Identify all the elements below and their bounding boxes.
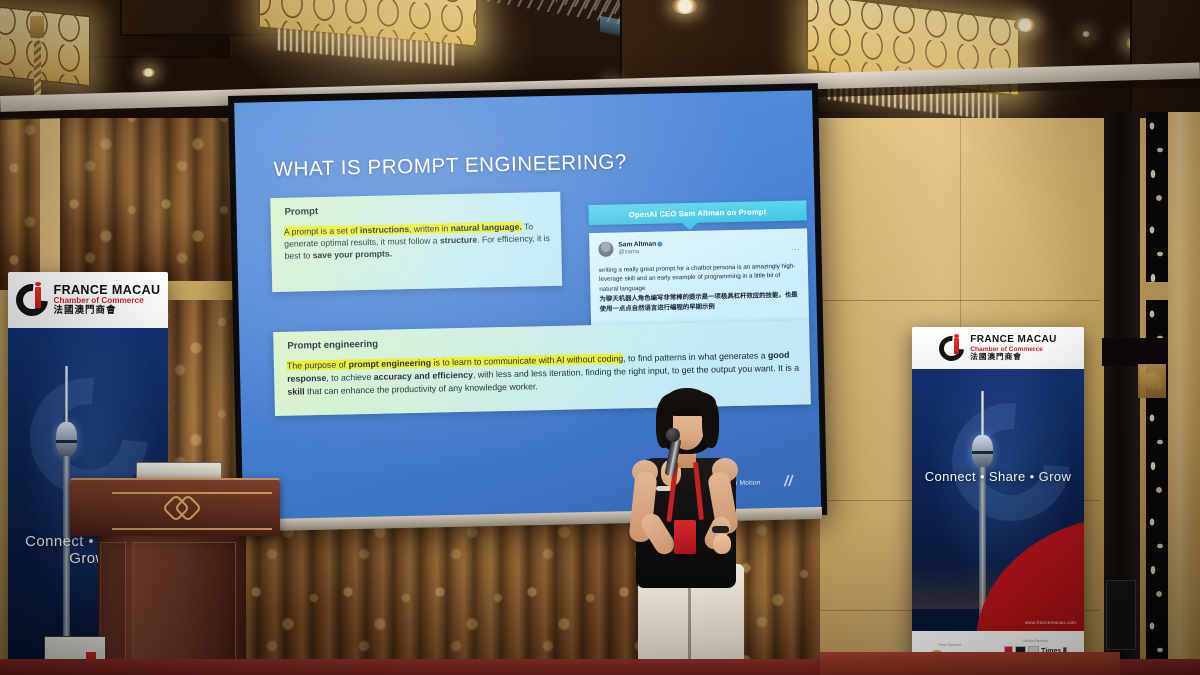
tweet-text: writing a really great prompt for a chat…: [599, 262, 801, 294]
verified-badge-icon: [657, 242, 662, 247]
engineering-card-label: Prompt engineering: [287, 339, 378, 352]
speaker-figure: [612, 386, 782, 675]
name-badge-icon: [674, 520, 696, 554]
prompt-card-label: Prompt: [284, 206, 318, 218]
tweet-author-name: Sam Altman: [618, 241, 656, 249]
rollup-right-url: www.francemacau.com: [1025, 620, 1076, 625]
slide-title: WHAT IS PROMPT ENGINEERING?: [273, 150, 627, 182]
cci-chamber-logo-icon: [939, 336, 964, 361]
tweet-author-handle: @sama: [618, 249, 639, 255]
ceiling-downlight: [1014, 18, 1036, 32]
cci-chamber-logo-icon: [16, 284, 48, 316]
rollup-banner-right: FRANCE MACAU Chamber of Commerce 法國澳門商會 …: [912, 327, 1084, 675]
sponsor-caption: Pearl Sponsor: [929, 643, 970, 647]
ceiling-coffer-far-right: [1130, 0, 1200, 118]
rollup-left-header: FRANCE MACAU Chamber of Commerce 法國澳門商會: [8, 272, 168, 328]
avatar: [598, 242, 613, 257]
sconce-candle: [30, 16, 44, 38]
org-name-line1: FRANCE MACAU: [970, 335, 1056, 346]
wall-sconce-left: [0, 4, 90, 86]
rollup-right-slogan: Connect • Share • Grow: [912, 469, 1084, 484]
tweet-banner-label: OpenAI CEO Sam Altman on Prompt: [629, 207, 767, 219]
ceiling-downlight: [142, 68, 155, 77]
speaker-hand-gesture: [713, 534, 731, 554]
media-caption: Media Partners: [1004, 639, 1067, 643]
speaker-hair-side-right: [702, 400, 719, 448]
slide-logo-mark: //: [784, 473, 793, 490]
prompt-definition-card: Prompt A prompt is a set of instructions…: [270, 192, 562, 292]
org-name-line3: 法國澳門商會: [54, 306, 161, 316]
stone-inlay-panel: [1146, 112, 1168, 282]
more-options-icon[interactable]: ···: [791, 245, 801, 254]
tweet-card: Sam Altman @sama ··· writing a really gr…: [589, 228, 809, 335]
door-knob-plate: [1138, 364, 1166, 398]
rollup-right-org-text: FRANCE MACAU Chamber of Commerce 法國澳門商會: [970, 335, 1056, 361]
floor-carpet-right: [820, 652, 1120, 675]
sconce-cord: [34, 40, 41, 102]
lectern-top-trim: [112, 528, 272, 530]
org-name-line1: FRANCE MACAU: [54, 284, 161, 297]
ceiling-downlight: [1082, 31, 1090, 37]
tweet-banner: OpenAI CEO Sam Altman on Prompt: [588, 200, 806, 225]
org-name-line3: 法國澳門商會: [970, 353, 1056, 361]
watch: [712, 526, 729, 533]
wall-poster-right: [1106, 580, 1136, 650]
wall-far-right: [1168, 112, 1200, 675]
wall-seam: [800, 300, 1100, 301]
prompt-card-body: A prompt is a set of instructions, writt…: [284, 220, 551, 262]
tweet-text-chinese: 为聊天机器人角色编写非常棒的提示是一项极具杠杆效应的技能，也是使用一点点自然语言…: [599, 291, 800, 315]
microphone-head: [666, 428, 680, 442]
lectern-front-panel: [132, 542, 236, 674]
rollup-left-org-text: FRANCE MACAU Chamber of Commerce 法國澳門商會: [54, 284, 161, 316]
curtain-left-upper: [60, 96, 235, 281]
presentation-photo-scene: WHAT IS PROMPT ENGINEERING? Prompt A pro…: [0, 0, 1200, 675]
rollup-right-body: Connect • Share • Grow www.francemacau.c…: [912, 369, 1084, 631]
ghost-logo-watermark: [928, 379, 1084, 545]
rollup-right-header: FRANCE MACAU Chamber of Commerce 法國澳門商會: [912, 327, 1084, 369]
lectern-top-trim: [112, 492, 272, 494]
